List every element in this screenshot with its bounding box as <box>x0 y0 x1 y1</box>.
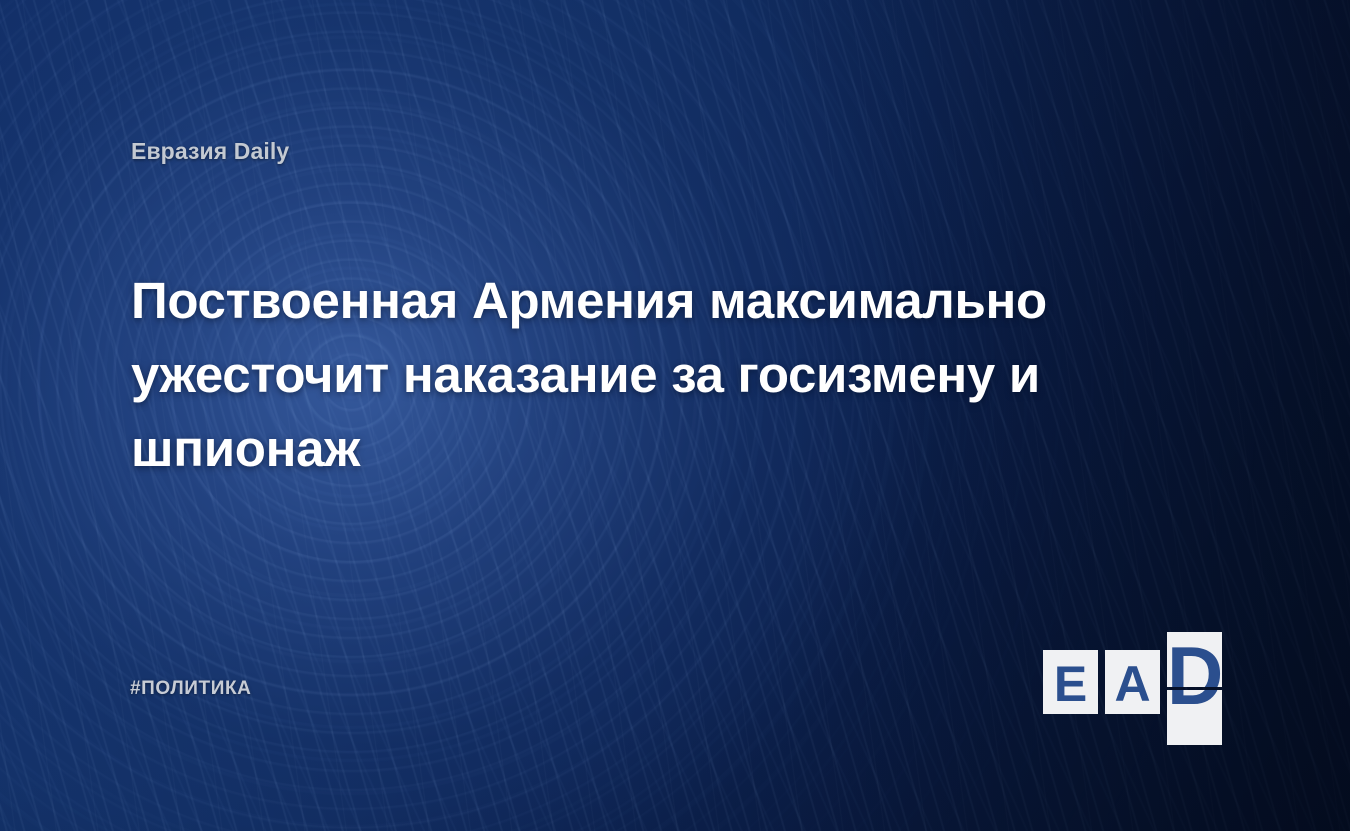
logo-letter-d-bottom: D <box>1167 690 1222 716</box>
logo-tile-e: E <box>1043 650 1098 714</box>
news-social-card: Евразия Daily Поствоенная Армения максим… <box>0 0 1350 831</box>
logo-tile-d-top: D <box>1167 632 1222 687</box>
logo-letter-e: E <box>1043 659 1098 709</box>
logo-letter-a: A <box>1105 659 1160 709</box>
category-hashtag: #ПОЛИТИКА <box>130 678 252 700</box>
logo-letter-d-top: D <box>1167 635 1222 687</box>
headline-title: Поствоенная Армения максимально ужесточи… <box>131 264 1131 486</box>
ead-logo: E A D D <box>1043 632 1231 714</box>
brand-name: Евразия Daily <box>131 138 289 165</box>
card-content: Евразия Daily Поствоенная Армения максим… <box>0 0 1350 831</box>
logo-tile-a: A <box>1105 650 1160 714</box>
logo-tile-d-bottom: D <box>1167 690 1222 745</box>
